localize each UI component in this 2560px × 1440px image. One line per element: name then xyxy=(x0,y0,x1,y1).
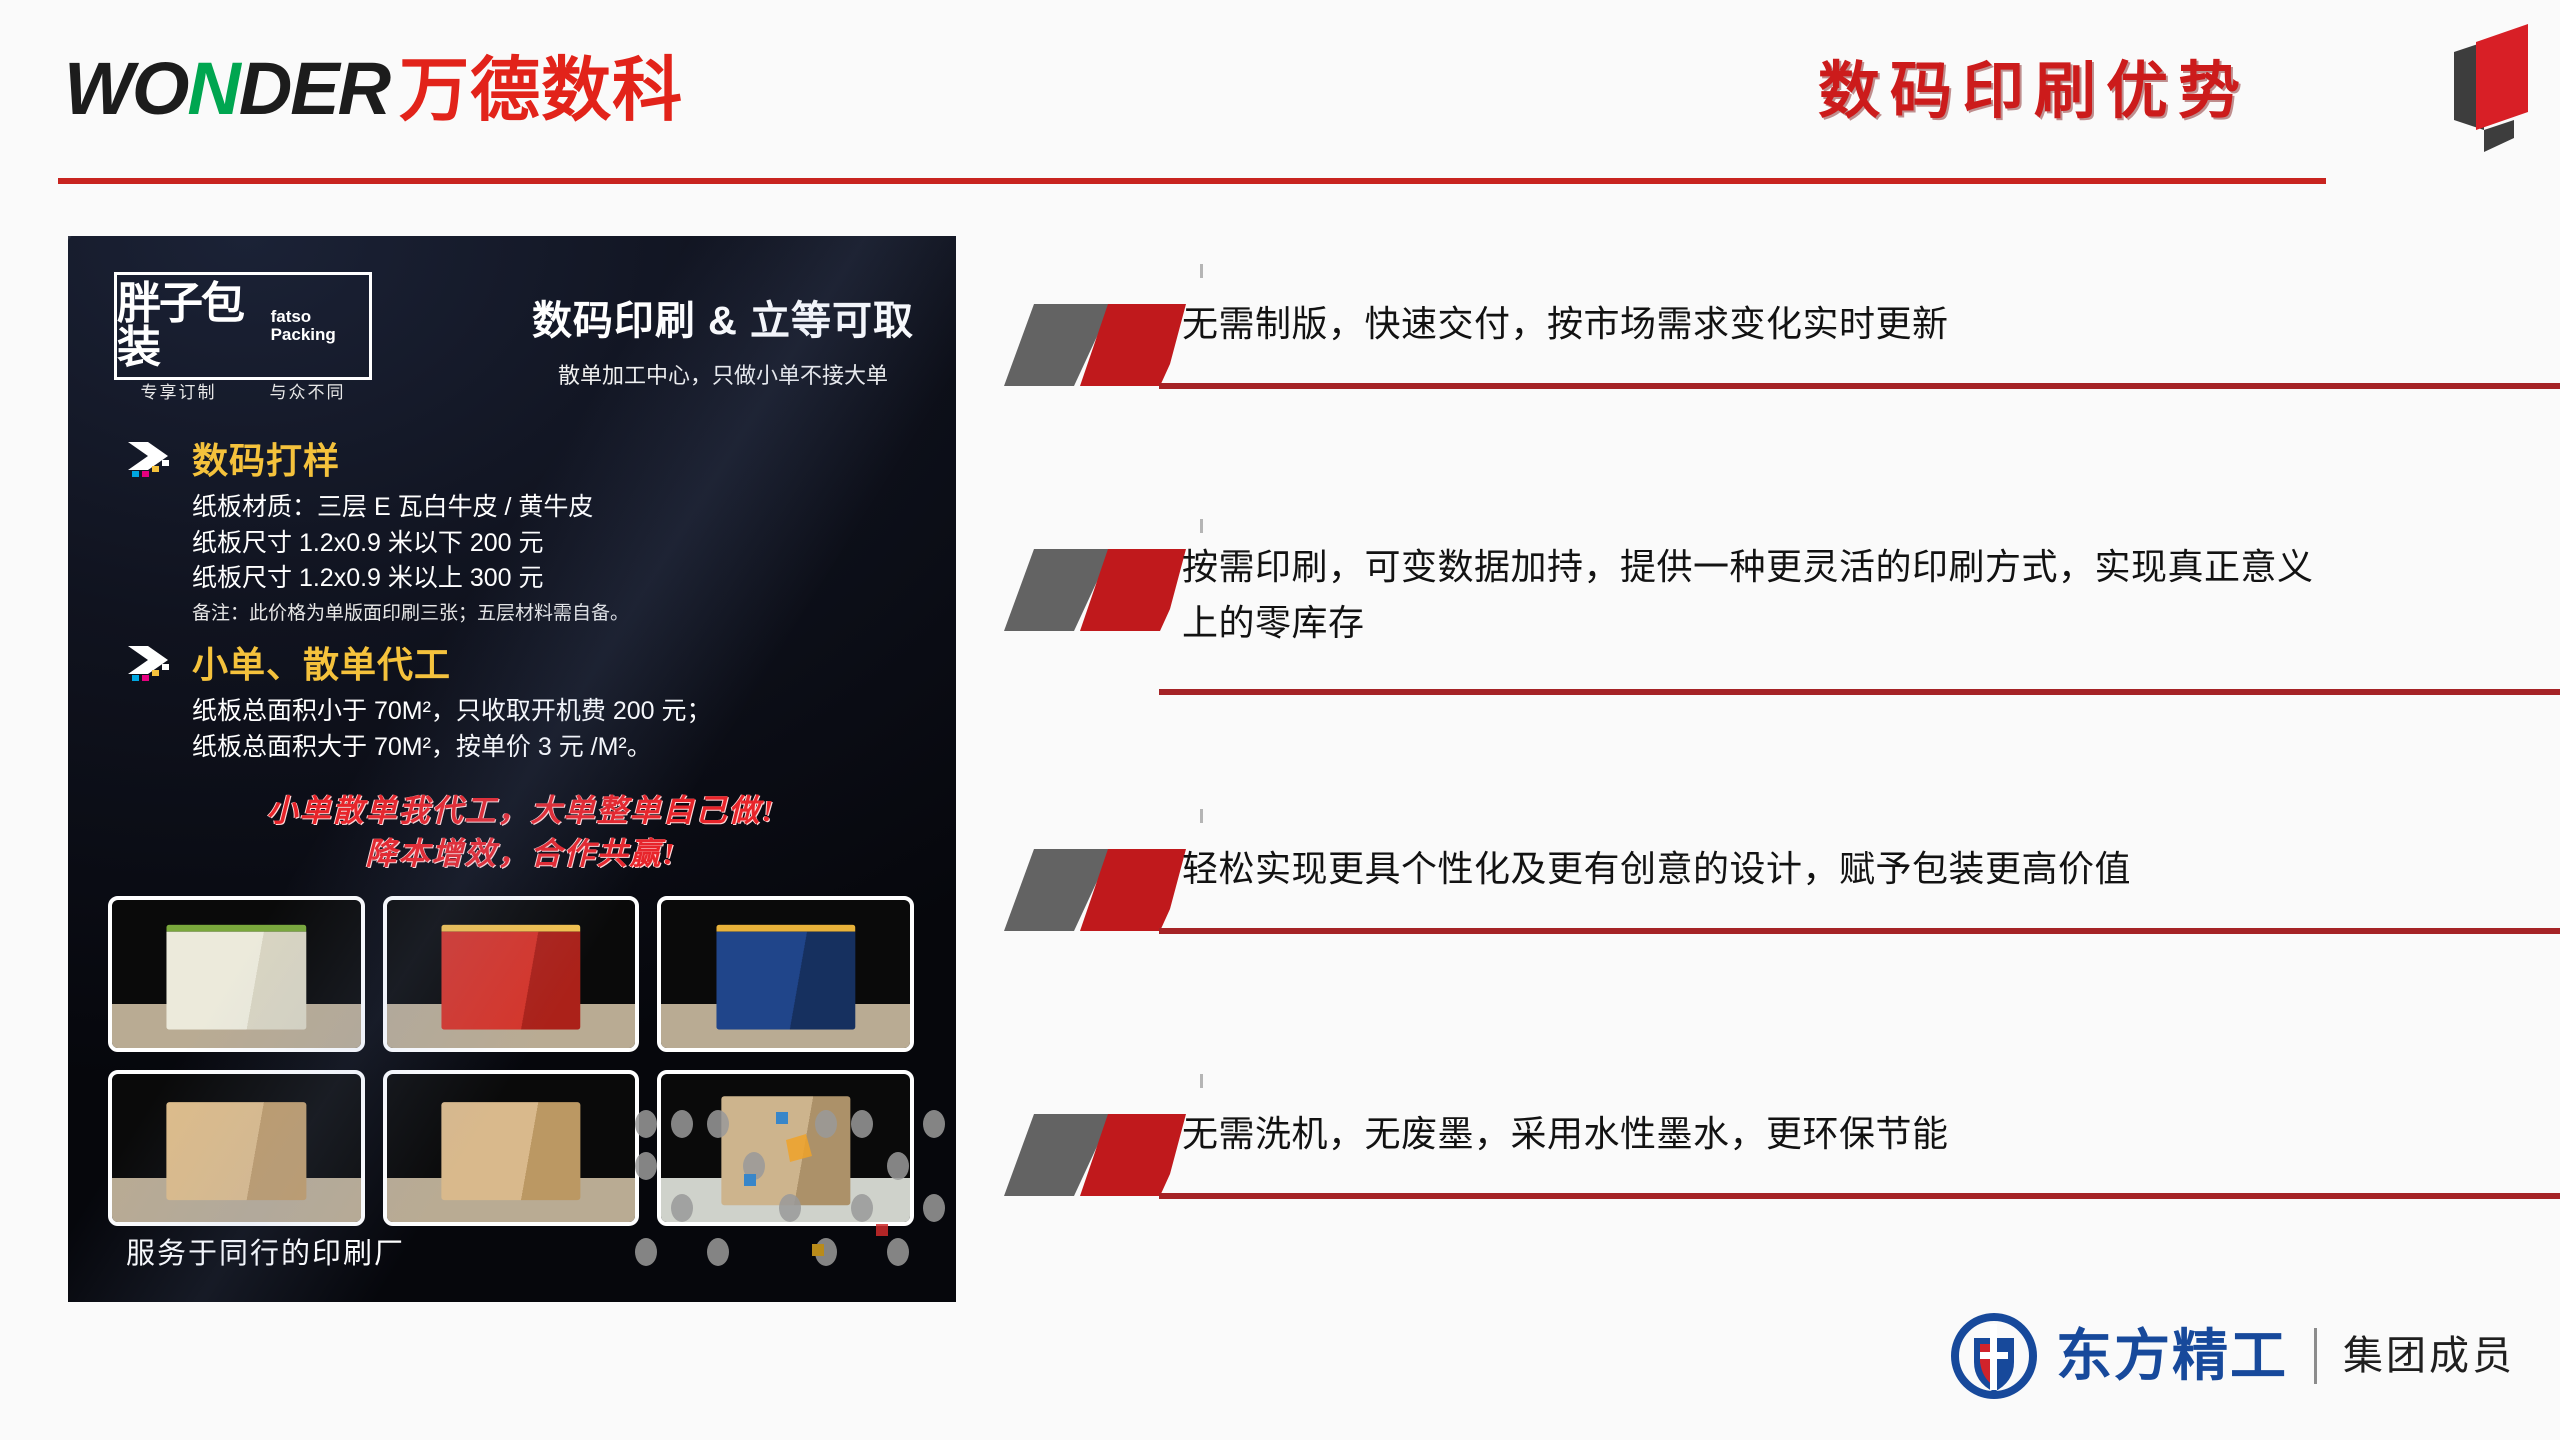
poster-subheadline: 散单加工中心，只做小单不接大单 xyxy=(523,358,923,390)
slide-header: WONDER 万德数科 数码印刷优势 xyxy=(0,0,2560,172)
fatso-logo-cn: 胖子包装 xyxy=(117,282,267,370)
poster-headline-block: 数码印刷 & 立等可取 散单加工中心，只做小单不接大单 xyxy=(523,288,923,390)
tick-mark xyxy=(1200,809,1203,823)
double-parallelogram-marker-icon xyxy=(1004,545,1194,637)
double-parallelogram-marker-icon xyxy=(1004,1110,1194,1202)
company-name: 东方精工 xyxy=(2056,1328,2288,1384)
logo-separator xyxy=(2314,1328,2317,1384)
slogan-line-1: 小单散单我代工，大单整单自己做! xyxy=(126,790,916,833)
section-line: 纸板尺寸 1.2x0.9 米以上 300 元 xyxy=(192,561,916,597)
bullet-underline xyxy=(1159,928,2560,934)
section-note: 备注：此价格为单版面印刷三张；五层材料需自备。 xyxy=(192,601,916,628)
section-line: 纸板材质：三层 E 瓦白牛皮 / 黄牛皮 xyxy=(192,490,916,526)
tick-mark xyxy=(1200,519,1203,533)
promo-poster: 胖子包装 fatso Packing 专享订制 与众不同 数码印刷 & 立等可取… xyxy=(68,236,956,1302)
brand-logo-part-2: N xyxy=(187,52,238,126)
double-parallelogram-marker-icon xyxy=(1004,845,1194,937)
group-member-label: 集团成员 xyxy=(2343,1336,2515,1376)
fatso-logo-taglines: 专享订制 与众不同 xyxy=(114,378,372,403)
poster-slogan: 小单散单我代工，大单整单自己做! 降本增效，合作共赢! xyxy=(126,790,916,876)
brand-logo-part-1: WO xyxy=(64,52,187,126)
footer-company-logo: 东方精工 集团成员 xyxy=(1950,1308,2515,1404)
photo-box xyxy=(441,1102,580,1200)
section-line: 纸板总面积小于 70M²，只收取开机费 200 元； xyxy=(192,694,916,730)
photo-box xyxy=(716,925,855,1030)
chevron-arrow-icon xyxy=(126,642,182,682)
brand-logo: WONDER 万德数科 xyxy=(64,52,683,130)
section-heading: 数码打样 xyxy=(126,432,916,484)
header-divider-rule xyxy=(58,178,2326,184)
product-photo-kraft-plain-carton xyxy=(108,1070,365,1226)
product-photo-red-roast-chicken-box xyxy=(383,896,640,1052)
section-line: 纸板总面积大于 70M²，按单价 3 元 /M²。 xyxy=(192,730,916,766)
slogan-line-2: 降本增效，合作共赢! xyxy=(126,833,916,876)
brand-logo-chinese: 万德数科 xyxy=(399,55,683,125)
poster-headline: 数码印刷 & 立等可取 xyxy=(523,288,923,346)
double-parallelogram-marker-icon xyxy=(1004,300,1194,392)
fatso-logo-en: fatso Packing xyxy=(271,308,369,344)
section-title: 数码打样 xyxy=(192,432,340,484)
bullet-underline xyxy=(1159,689,2560,695)
tagline-left: 专享订制 xyxy=(141,378,217,403)
dongfang-shield-icon xyxy=(1950,1312,2038,1400)
fatso-packing-logo: 胖子包装 fatso Packing xyxy=(114,272,372,380)
bullet-text: 轻松实现更具个性化及更有创意的设计，赋予包装更高价值 xyxy=(1182,841,2332,897)
brand-logo-part-3: DER xyxy=(239,52,389,126)
folded-panel-mark-icon xyxy=(2448,8,2534,152)
halftone-dot-decoration xyxy=(626,1104,956,1284)
bullet-underline xyxy=(1159,1193,2560,1199)
photo-box xyxy=(441,925,580,1030)
page-title: 数码印刷优势 xyxy=(1818,40,2250,130)
tagline-right: 与众不同 xyxy=(270,378,346,403)
section-heading: 小单、散单代工 xyxy=(126,636,916,688)
bullet-underline xyxy=(1159,383,2560,389)
section-title: 小单、散单代工 xyxy=(192,636,451,688)
bullet-text: 无需洗机，无废墨，采用水性墨水，更环保节能 xyxy=(1182,1106,2332,1162)
tick-mark xyxy=(1200,264,1203,278)
poster-footer-text: 服务于同行的印刷厂 xyxy=(126,1230,405,1272)
chevron-arrow-icon xyxy=(126,438,182,478)
photo-box xyxy=(167,925,306,1030)
bullet-text: 无需制版，快速交付，按市场需求变化实时更新 xyxy=(1182,296,2332,352)
tick-mark xyxy=(1200,1074,1203,1088)
bullet-text: 按需印刷，可变数据加持，提供一种更灵活的印刷方式，实现真正意义上的零库存 xyxy=(1182,539,2332,651)
poster-section-digital-proofing: 数码打样 纸板材质：三层 E 瓦白牛皮 / 黄牛皮 纸板尺寸 1.2x0.9 米… xyxy=(126,432,916,627)
product-photo-honey-gift-box xyxy=(108,896,365,1052)
photo-box xyxy=(167,1102,306,1200)
section-line: 纸板尺寸 1.2x0.9 米以下 200 元 xyxy=(192,526,916,562)
product-photo-kraft-classic-gift-set xyxy=(383,1070,640,1226)
poster-section-small-order-oem: 小单、散单代工 纸板总面积小于 70M²，只收取开机费 200 元； 纸板总面积… xyxy=(126,636,916,765)
product-photo-blue-beef-jerky-carton xyxy=(657,896,914,1052)
